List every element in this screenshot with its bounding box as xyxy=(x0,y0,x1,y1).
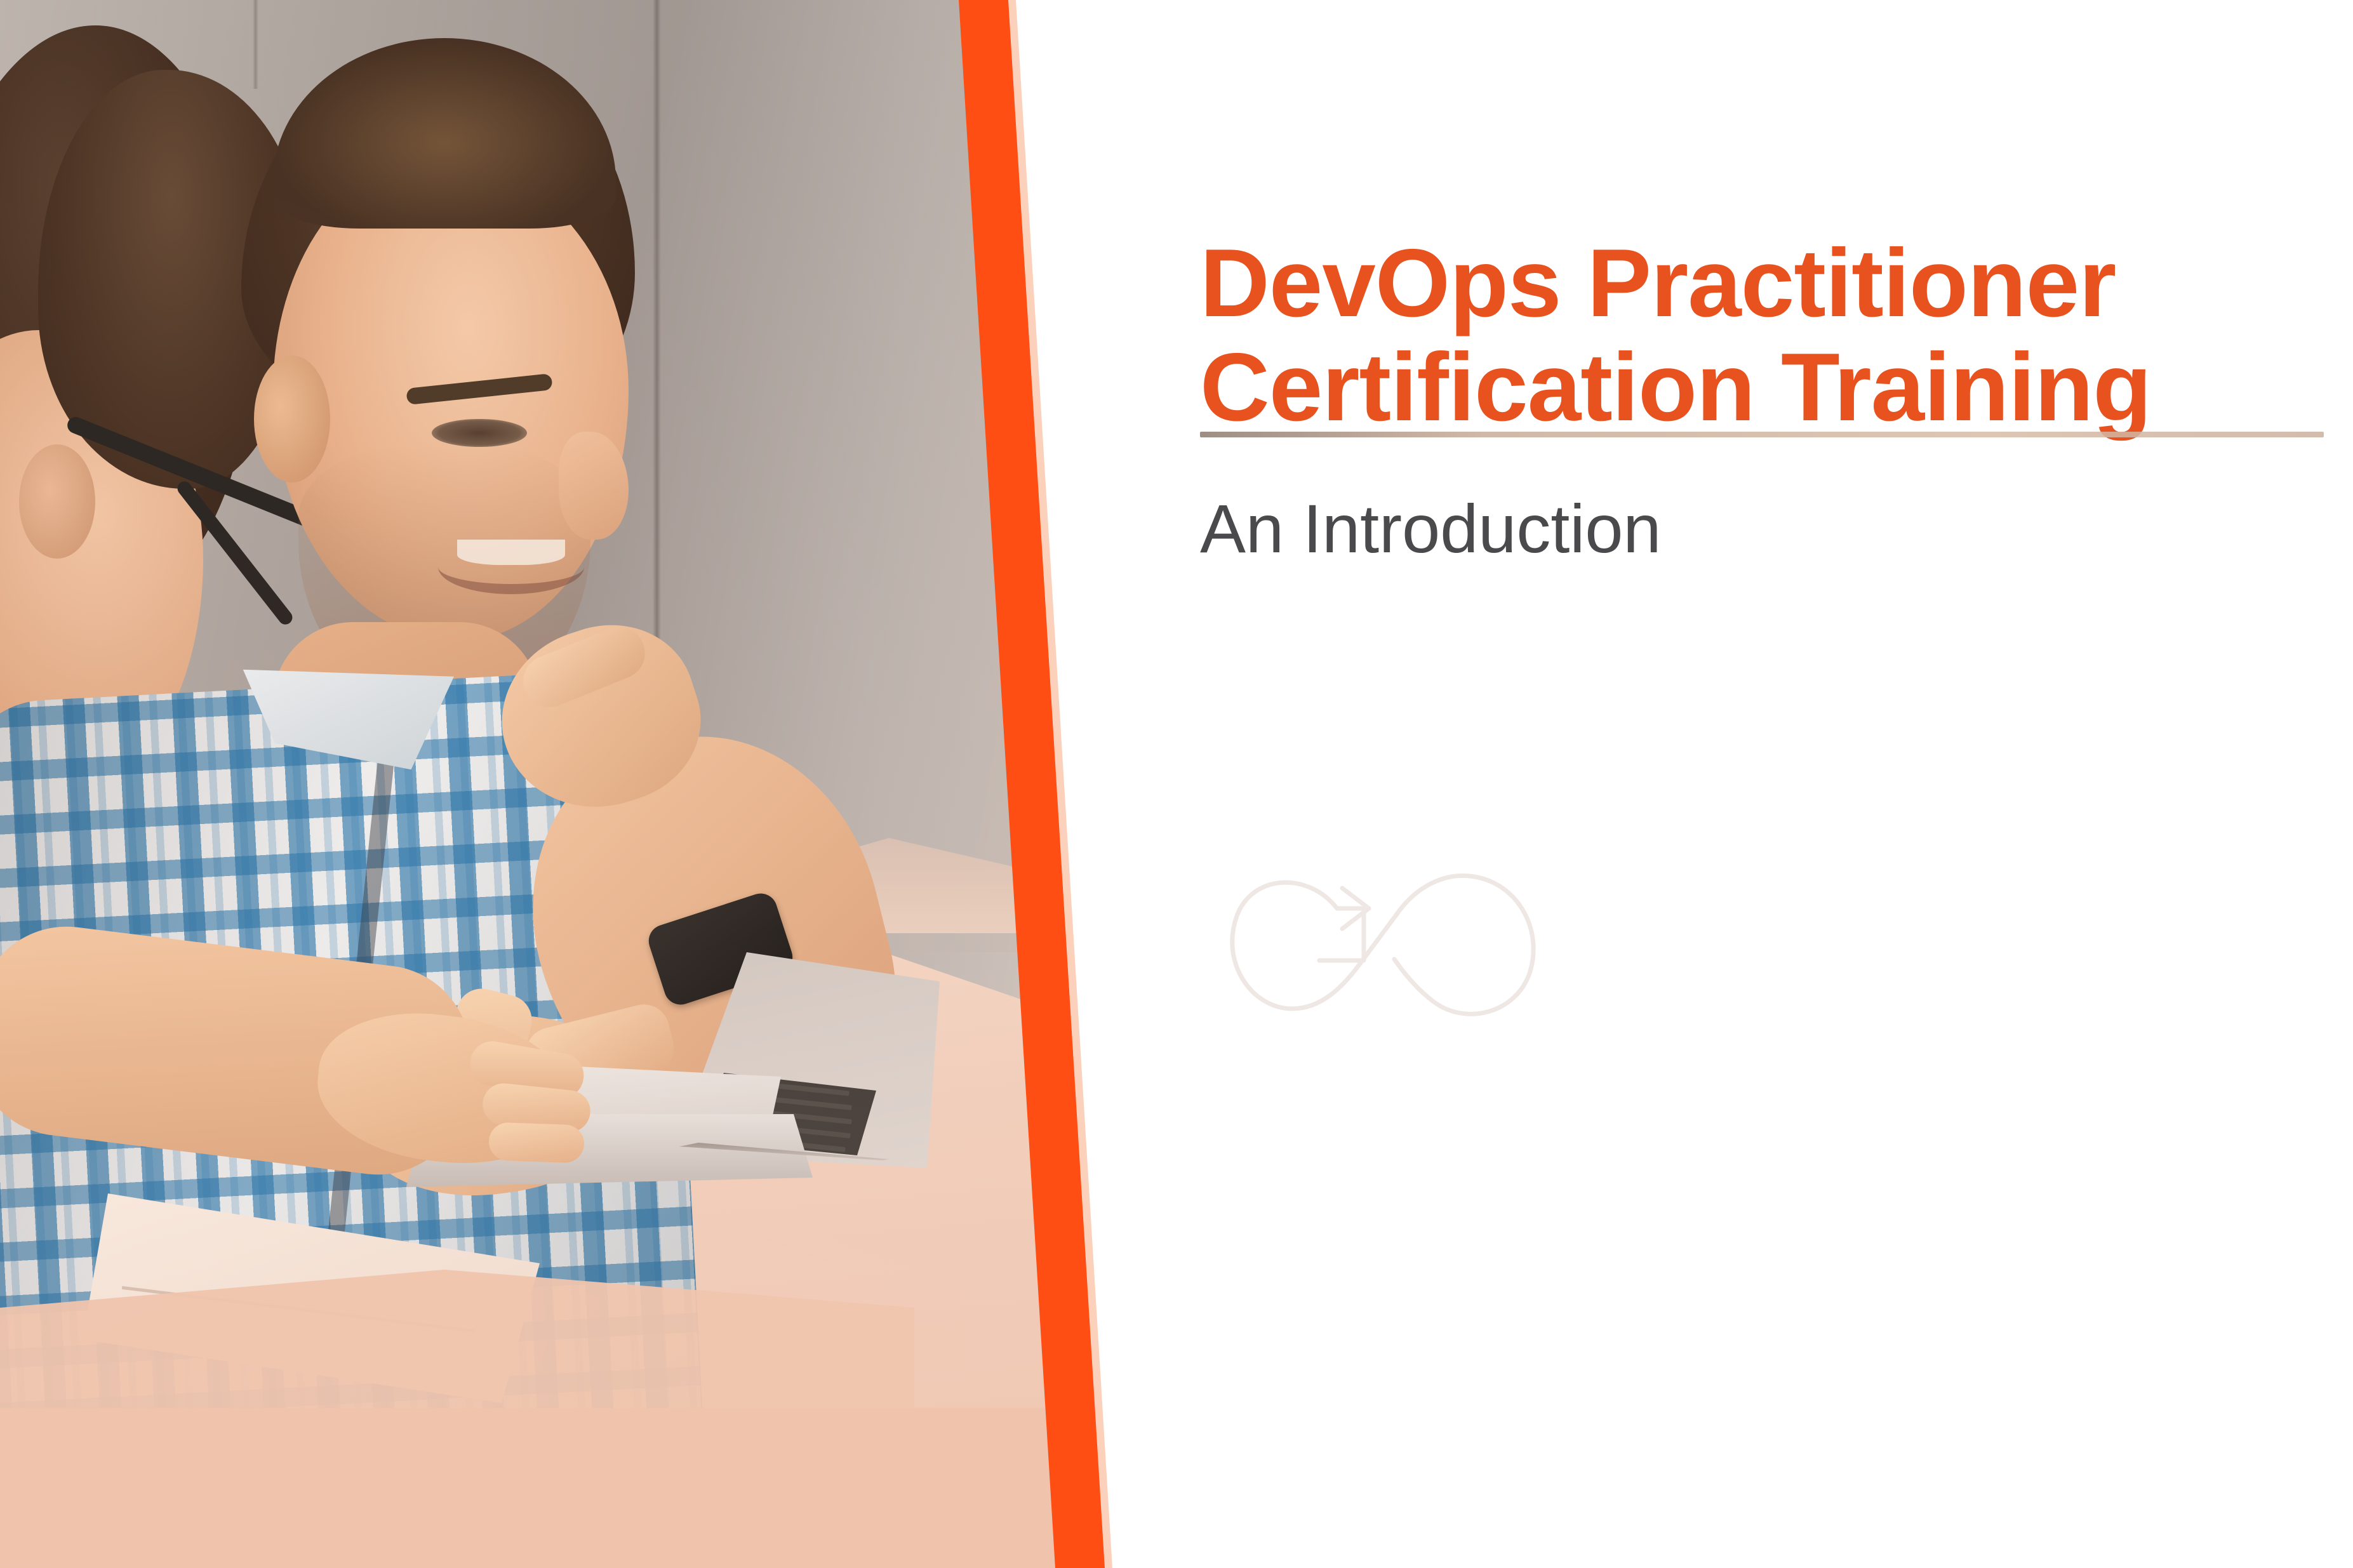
hero-photo xyxy=(0,0,1143,1568)
page-subtitle: An Introduction xyxy=(1200,489,1661,568)
slide-content: DevOps PractitionerCertification Trainin… xyxy=(1200,0,2353,1568)
title-divider xyxy=(1200,432,2324,437)
page-title: DevOps PractitionerCertification Trainin… xyxy=(1200,231,2353,439)
title-line-2: Certification Training xyxy=(1200,335,2353,439)
title-line-1: DevOps Practitioner xyxy=(1200,229,2116,337)
presentation-slide: DevOps PractitionerCertification Trainin… xyxy=(0,0,2353,1568)
devops-infinity-loop-icon xyxy=(1213,847,1568,1057)
photo-warm-overlay xyxy=(0,0,1143,1568)
